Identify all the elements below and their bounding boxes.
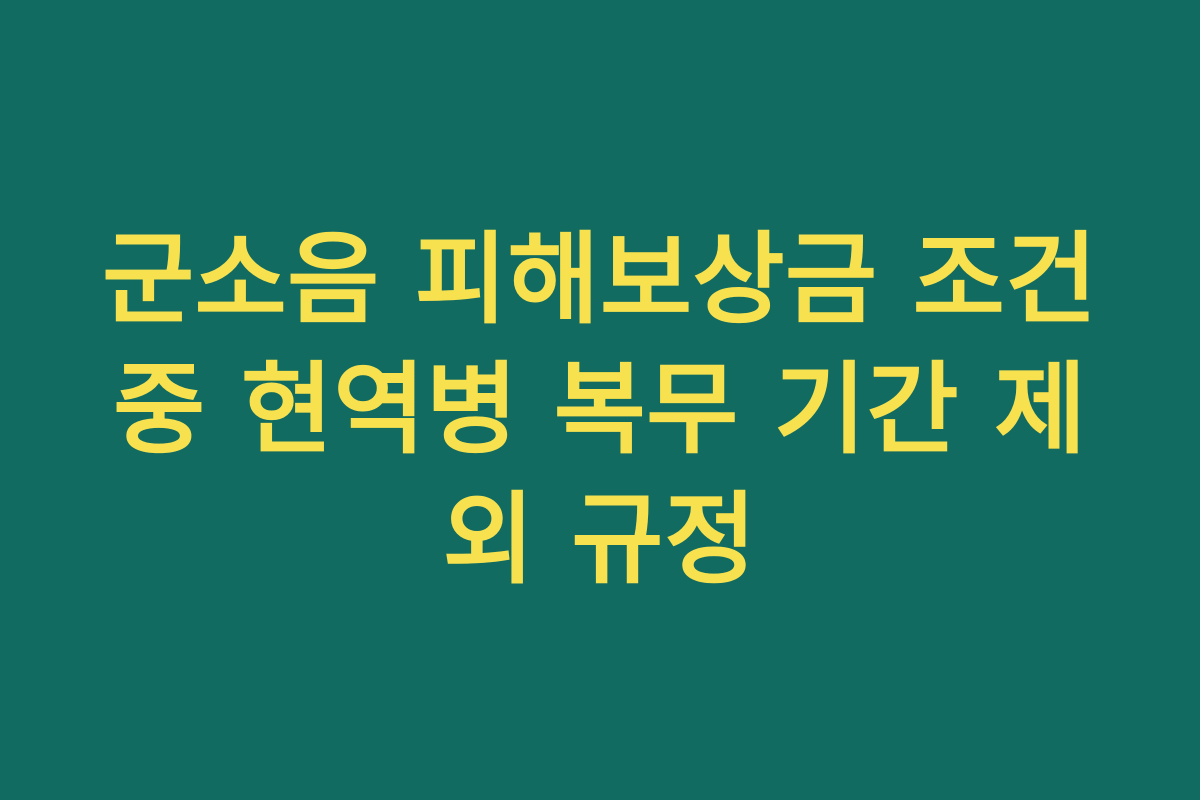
title-card: 군소음 피해보상금 조건 중 현역병 복무 기간 제 외 규정 <box>0 0 1200 800</box>
title-line-2: 중 현역병 복무 기간 제 <box>90 345 1110 475</box>
page-title: 군소음 피해보상금 조건 중 현역병 복무 기간 제 외 규정 <box>80 215 1120 605</box>
title-line-3: 외 규정 <box>90 475 1110 605</box>
title-line-1: 군소음 피해보상금 조건 <box>90 215 1110 345</box>
